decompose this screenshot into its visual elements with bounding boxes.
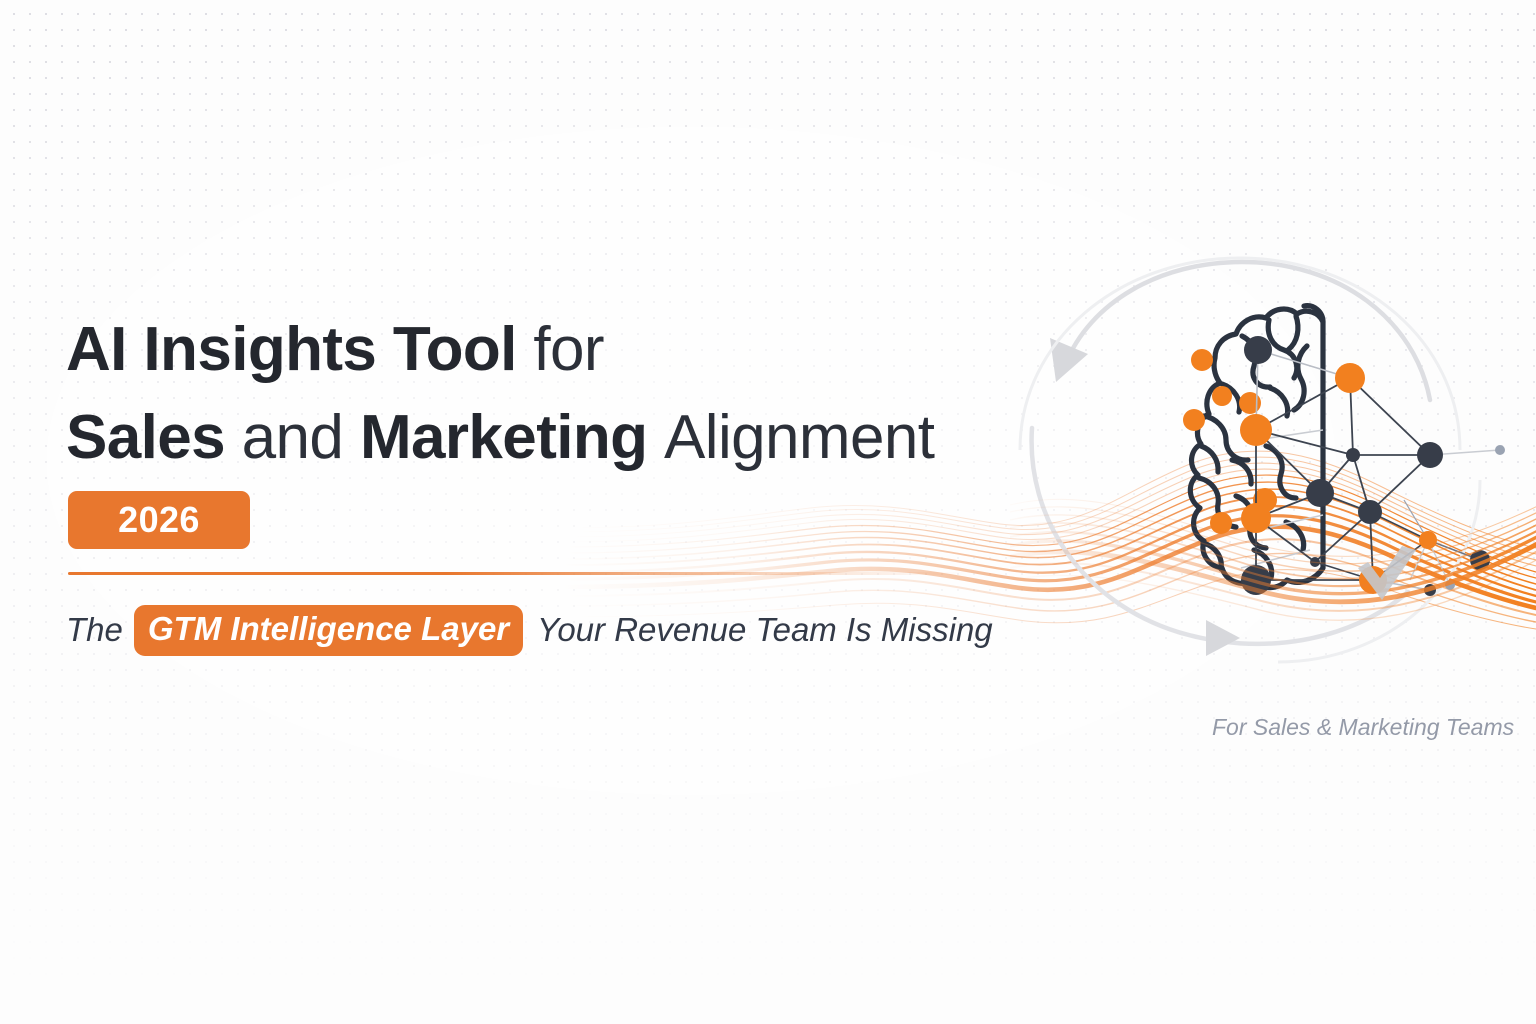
headline-light-and: and xyxy=(242,403,344,472)
circular-refresh-arrow-top xyxy=(1065,262,1430,400)
headline-light-for: for xyxy=(533,315,604,384)
network-node xyxy=(1424,584,1436,596)
subtitle-prefix: The xyxy=(66,611,134,649)
brain-node xyxy=(1191,349,1213,371)
subtitle: The GTM Intelligence Layer Your Revenue … xyxy=(66,605,993,656)
brain-outline-icon xyxy=(1190,306,1323,588)
network-node xyxy=(1335,363,1365,393)
network-edges xyxy=(1241,350,1500,590)
headline-line-1: AI Insights Tool for xyxy=(66,306,1026,394)
network-node xyxy=(1306,479,1334,507)
network-node xyxy=(1419,531,1437,549)
year-badge: 2026 xyxy=(68,491,250,549)
ai-brain-network-graphic xyxy=(1010,250,1536,680)
graphic-wave-overlay xyxy=(1010,499,1536,620)
brain-node xyxy=(1210,512,1232,534)
chevron-accent-icon xyxy=(1358,546,1416,600)
audience-footnote: For Sales & Marketing Teams xyxy=(1212,714,1514,741)
network-node xyxy=(1359,566,1387,594)
network-node xyxy=(1470,550,1490,570)
subtitle-suffix: Your Revenue Team Is Missing xyxy=(523,611,993,649)
headline-bold-ai-insights-tool: AI Insights Tool xyxy=(66,315,517,384)
headline-line-2: Sales and Marketing Alignment xyxy=(66,394,1026,482)
network-node xyxy=(1241,503,1271,533)
page-title: AI Insights Tool for Sales and Marketing… xyxy=(66,306,1026,482)
network-node xyxy=(1358,500,1382,524)
headline-bold-marketing: Marketing xyxy=(360,403,647,472)
network-node xyxy=(1240,414,1272,446)
network-node xyxy=(1241,565,1271,595)
brain-node xyxy=(1253,488,1277,512)
network-node xyxy=(1310,557,1320,567)
subtitle-highlight-pill: GTM Intelligence Layer xyxy=(134,605,523,656)
brain-node xyxy=(1239,392,1261,414)
banner-canvas: AI Insights Tool for Sales and Marketing… xyxy=(0,0,1536,1024)
arrow-head-left-icon xyxy=(1050,338,1088,382)
brain-node xyxy=(1183,409,1205,431)
arrow-head-right-icon xyxy=(1206,620,1240,656)
network-node xyxy=(1244,336,1272,364)
network-node xyxy=(1495,445,1505,455)
network-node xyxy=(1346,448,1360,462)
network-node xyxy=(1417,442,1443,468)
outer-arc-decoration xyxy=(1020,258,1480,662)
orange-divider-line xyxy=(68,572,968,575)
circular-refresh-arrow-bottom xyxy=(1032,428,1408,644)
brain-nodes-group xyxy=(1183,349,1277,534)
network-node xyxy=(1445,580,1455,590)
headline-bold-sales: Sales xyxy=(66,403,225,472)
network-nodes-group xyxy=(1240,336,1505,596)
headline-light-alignment: Alignment xyxy=(664,403,934,472)
brain-node xyxy=(1212,386,1232,406)
